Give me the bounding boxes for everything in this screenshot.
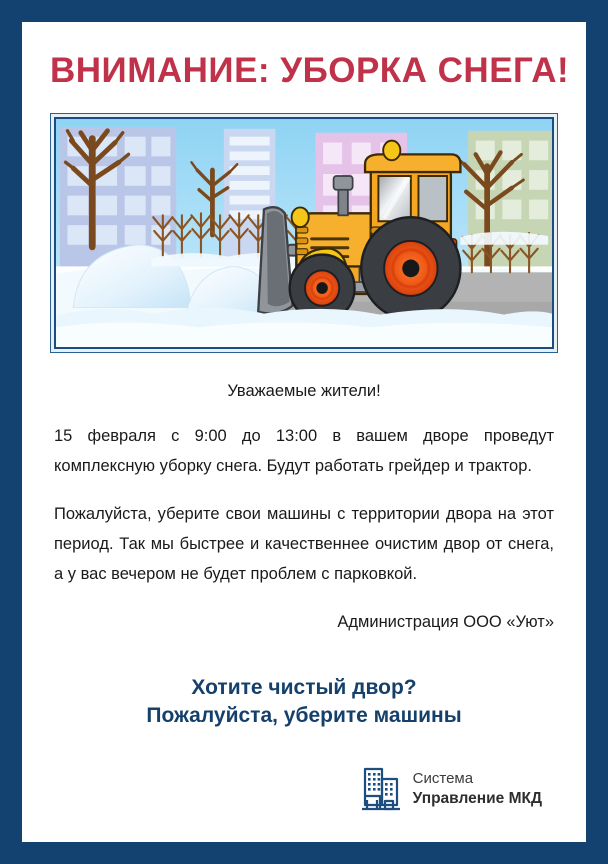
poster-content: ВНИМАНИЕ: УБОРКА СНЕГА! — [22, 22, 586, 842]
poster: ВНИМАНИЕ: УБОРКА СНЕГА! — [0, 0, 608, 864]
illustration-svg — [56, 119, 552, 347]
illustration-frame — [50, 113, 558, 353]
signature: Администрация ООО «Уют» — [54, 609, 554, 635]
logo-line-2: Управление МКД — [413, 789, 542, 809]
paragraph-request: Пожалуйста, уберите свои машины с террит… — [54, 499, 554, 589]
announcement-body: Уважаемые жители! 15 февраля с 9:00 до 1… — [50, 353, 558, 636]
brand-logo: Система Управление МКД — [50, 766, 558, 812]
paragraph-schedule: 15 февраля с 9:00 до 13:00 в вашем дворе… — [54, 421, 554, 481]
cta-line-2: Пожалуйста, уберите машины — [50, 702, 558, 730]
call-to-action: Хотите чистый двор? Пожалуйста, уберите … — [50, 674, 558, 731]
building-icon — [360, 766, 402, 812]
rear-wheel — [361, 217, 460, 319]
salutation: Уважаемые жители! — [54, 379, 554, 404]
snow-removal-illustration — [54, 117, 554, 349]
logo-text: Система Управление МКД — [413, 769, 542, 808]
page-title: ВНИМАНИЕ: УБОРКА СНЕГА! — [50, 22, 558, 91]
cta-line-1: Хотите чистый двор? — [50, 674, 558, 702]
logo-line-1: Система — [413, 769, 542, 788]
